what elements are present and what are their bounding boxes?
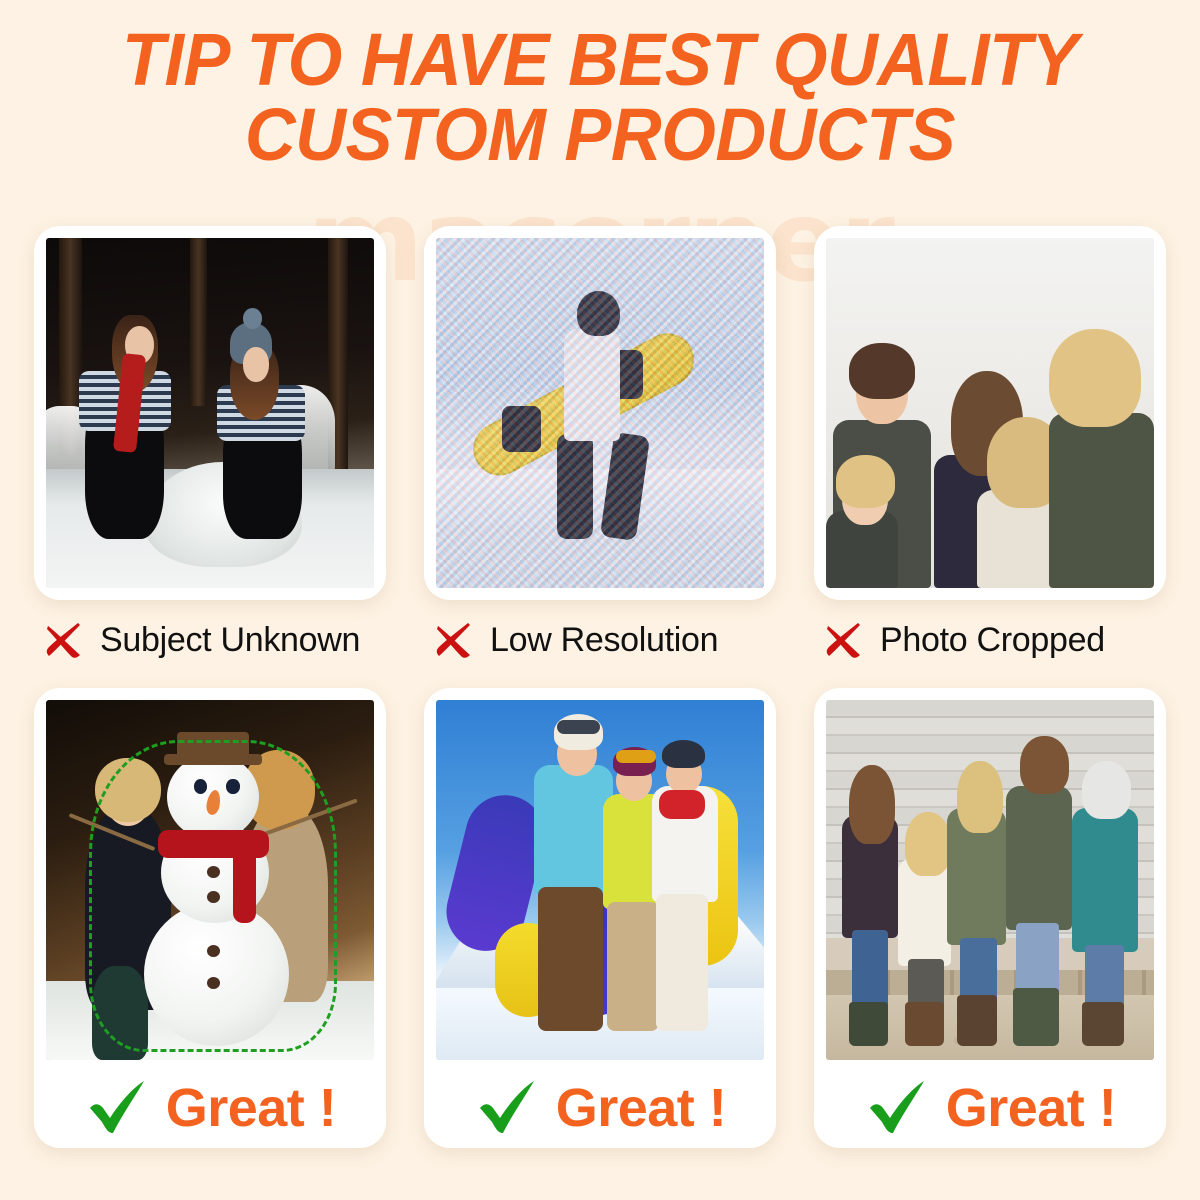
label-text: Photo Cropped bbox=[880, 621, 1105, 660]
photo-card-subject-unknown bbox=[34, 226, 386, 600]
label-great-snowman: Great ! bbox=[46, 1060, 374, 1156]
photo-photo-cropped bbox=[826, 238, 1154, 588]
example-cell-photo-cropped: Photo Cropped bbox=[814, 226, 1166, 666]
photo-card-low-resolution bbox=[424, 226, 776, 600]
photo-low-resolution bbox=[436, 238, 764, 588]
x-mark-icon bbox=[822, 618, 866, 662]
photo-great-family bbox=[826, 700, 1154, 1060]
photo-card-great-snowboarders: Great ! bbox=[424, 688, 776, 1148]
row-bad-examples: Subject Unknown bbox=[0, 226, 1200, 666]
photo-card-great-snowman: Great ! bbox=[34, 688, 386, 1148]
example-cell-great-snowboarders: Great ! bbox=[424, 688, 776, 1168]
check-mark-icon bbox=[84, 1075, 150, 1141]
label-text: Low Resolution bbox=[490, 621, 718, 660]
label-great-family: Great ! bbox=[826, 1060, 1154, 1156]
page-title-line-2: CUSTOM PRODUCTS bbox=[30, 97, 1170, 172]
label-photo-cropped: Photo Cropped bbox=[814, 616, 1166, 664]
page-title-line-1: TIP TO HAVE BEST QUALITY bbox=[30, 22, 1170, 97]
example-cell-great-family: Great ! bbox=[814, 688, 1166, 1168]
label-subject-unknown: Subject Unknown bbox=[34, 616, 386, 664]
photo-great-snowman bbox=[46, 700, 374, 1060]
label-great-snowboarders: Great ! bbox=[436, 1060, 764, 1156]
label-text: Great ! bbox=[556, 1077, 727, 1139]
photo-card-great-family: Great ! bbox=[814, 688, 1166, 1148]
x-mark-icon bbox=[42, 618, 86, 662]
check-mark-icon bbox=[474, 1075, 540, 1141]
example-cell-low-resolution: Low Resolution bbox=[424, 226, 776, 666]
label-low-resolution: Low Resolution bbox=[424, 616, 776, 664]
label-text: Subject Unknown bbox=[100, 621, 360, 660]
x-mark-icon bbox=[432, 618, 476, 662]
label-text: Great ! bbox=[166, 1077, 337, 1139]
label-text: Great ! bbox=[946, 1077, 1117, 1139]
page-title: TIP TO HAVE BEST QUALITY CUSTOM PRODUCTS bbox=[30, 22, 1170, 173]
photo-great-snowboarders bbox=[436, 700, 764, 1060]
check-mark-icon bbox=[864, 1075, 930, 1141]
photo-subject-unknown bbox=[46, 238, 374, 588]
example-cell-great-snowman: Great ! bbox=[34, 688, 386, 1168]
examples-grid: Subject Unknown bbox=[0, 226, 1200, 1168]
row-good-examples: Great ! bbox=[0, 688, 1200, 1168]
example-cell-subject-unknown: Subject Unknown bbox=[34, 226, 386, 666]
photo-card-photo-cropped bbox=[814, 226, 1166, 600]
